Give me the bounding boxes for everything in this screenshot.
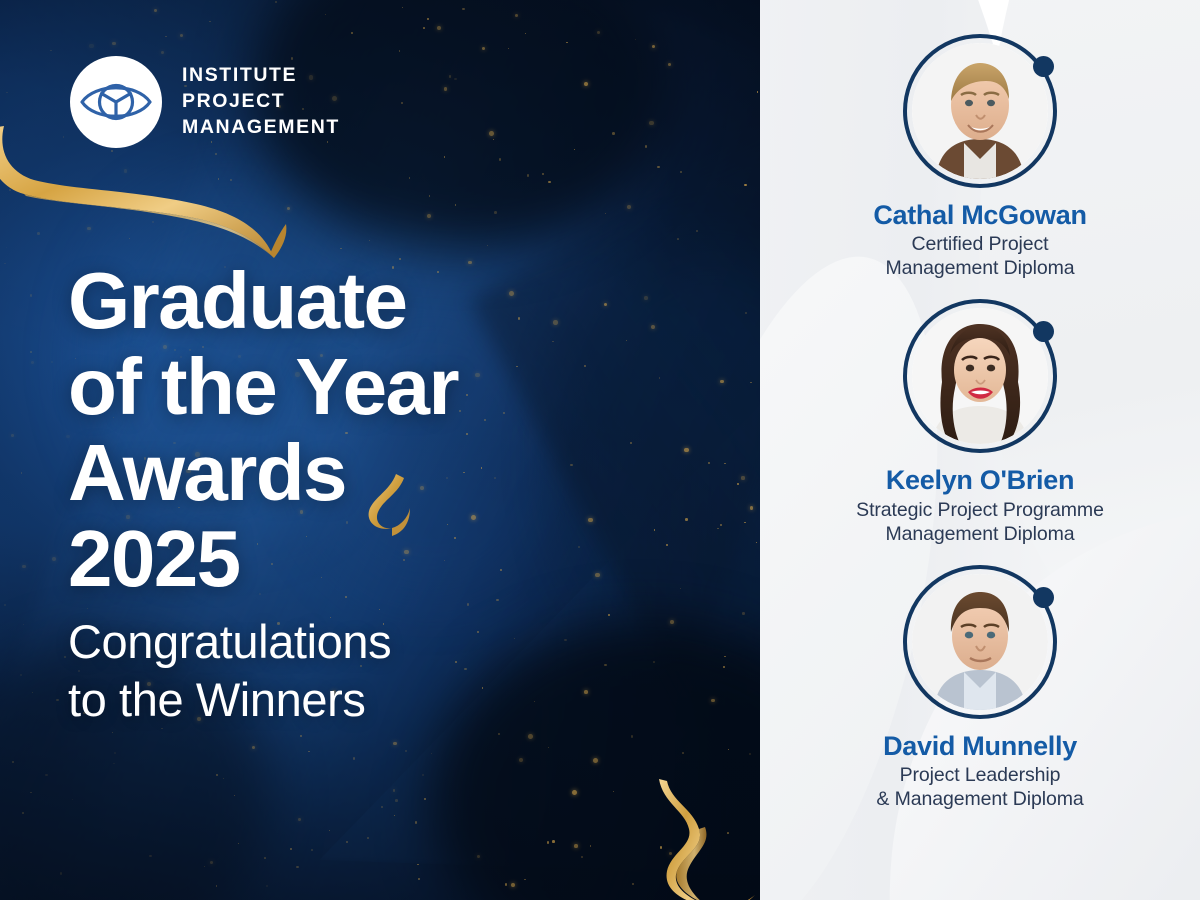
avatar-ring [903,565,1057,719]
page-title-line-3: Awards [68,430,708,516]
avatar-accent-dot-icon [1033,56,1054,77]
avatar [903,34,1057,188]
page-subtitle-line-1: Congratulations [68,613,708,671]
page-title-line-4: 2025 [68,516,708,602]
awards-poster: INSTITUTE PROJECT MANAGEMENT Graduate of… [0,0,1200,900]
page-title-line-1: Graduate [68,258,708,344]
winner-role-line-1: Strategic Project Programme [760,499,1200,523]
winner-role-line-2: Management Diploma [760,257,1200,281]
winner-name: David Munnelly [760,731,1200,762]
avatar-ring [903,34,1057,188]
winner-role: Project Leadership & Management Diploma [760,764,1200,812]
page-title-line-2: of the Year [68,344,708,430]
winner-role-line-2: & Management Diploma [760,788,1200,812]
winners-panel: Cathal McGowan Certified Project Managem… [760,0,1200,900]
winner-role-line-2: Management Diploma [760,523,1200,547]
eye-lens-y-logo-icon [70,56,162,148]
winner-role-line-1: Project Leadership [760,764,1200,788]
avatar-accent-dot-icon [1033,587,1054,608]
winner-name: Cathal McGowan [760,200,1200,231]
winner-card: Cathal McGowan Certified Project Managem… [760,34,1200,281]
winner-role: Strategic Project Programme Management D… [760,499,1200,547]
avatar [903,299,1057,453]
avatar-accent-dot-icon [1033,321,1054,342]
winner-card: David Munnelly Project Leadership & Mana… [760,565,1200,812]
brand-name: INSTITUTE PROJECT MANAGEMENT [182,63,340,141]
winner-role: Certified Project Management Diploma [760,233,1200,281]
page-subtitle-line-2: to the Winners [68,671,708,729]
brand-logo: INSTITUTE PROJECT MANAGEMENT [70,56,340,148]
winners-list: Cathal McGowan Certified Project Managem… [760,0,1200,812]
hero-panel: INSTITUTE PROJECT MANAGEMENT Graduate of… [0,0,760,900]
page-title: Graduate of the Year Awards 2025 [68,258,708,602]
winner-card: Keelyn O'Brien Strategic Project Program… [760,299,1200,546]
brand-name-line-2: PROJECT [182,90,285,112]
brand-name-line-3: MANAGEMENT [182,116,340,138]
page-subtitle: Congratulations to the Winners [68,613,708,730]
winner-role-line-1: Certified Project [760,233,1200,257]
brand-name-line-1: INSTITUTE [182,64,297,86]
avatar [903,565,1057,719]
avatar-ring [903,299,1057,453]
winner-name: Keelyn O'Brien [760,465,1200,496]
